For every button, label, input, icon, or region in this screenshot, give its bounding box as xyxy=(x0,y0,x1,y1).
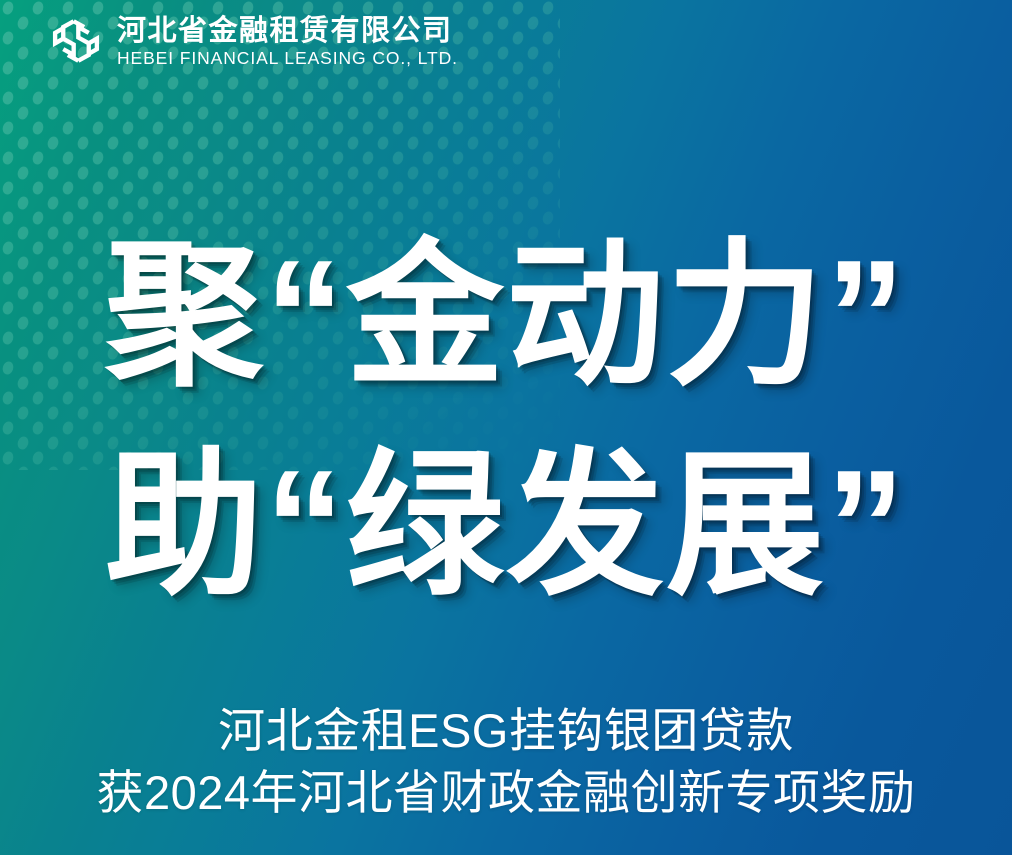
headline-line-1: 聚“金动力” xyxy=(0,218,1012,414)
poster-root: 河北省金融租赁有限公司 HEBEI FINANCIAL LEASING CO.,… xyxy=(0,0,1012,855)
brand-name-en: HEBEI FINANCIAL LEASING CO., LTD. xyxy=(117,48,458,68)
subtitle-line-1: 河北金租ESG挂钩银团贷款 xyxy=(0,700,1012,762)
brand-text-block: 河北省金融租赁有限公司 HEBEI FINANCIAL LEASING CO.,… xyxy=(117,15,458,68)
brand-name-cn: 河北省金融租赁有限公司 xyxy=(117,16,458,47)
subtitle-line-2: 获2024年河北省财政金融创新专项奖励 xyxy=(0,762,1012,824)
brand-lockup: 河北省金融租赁有限公司 HEBEI FINANCIAL LEASING CO.,… xyxy=(47,12,458,70)
subtitle-block: 河北金租ESG挂钩银团贷款 获2024年河北省财政金融创新专项奖励 xyxy=(0,700,1012,824)
hexagon-interlock-logo-icon xyxy=(47,12,105,70)
headline-block: 聚“金动力” 助“绿发展” xyxy=(0,218,1012,624)
headline-line-2: 助“绿发展” xyxy=(0,428,1012,624)
